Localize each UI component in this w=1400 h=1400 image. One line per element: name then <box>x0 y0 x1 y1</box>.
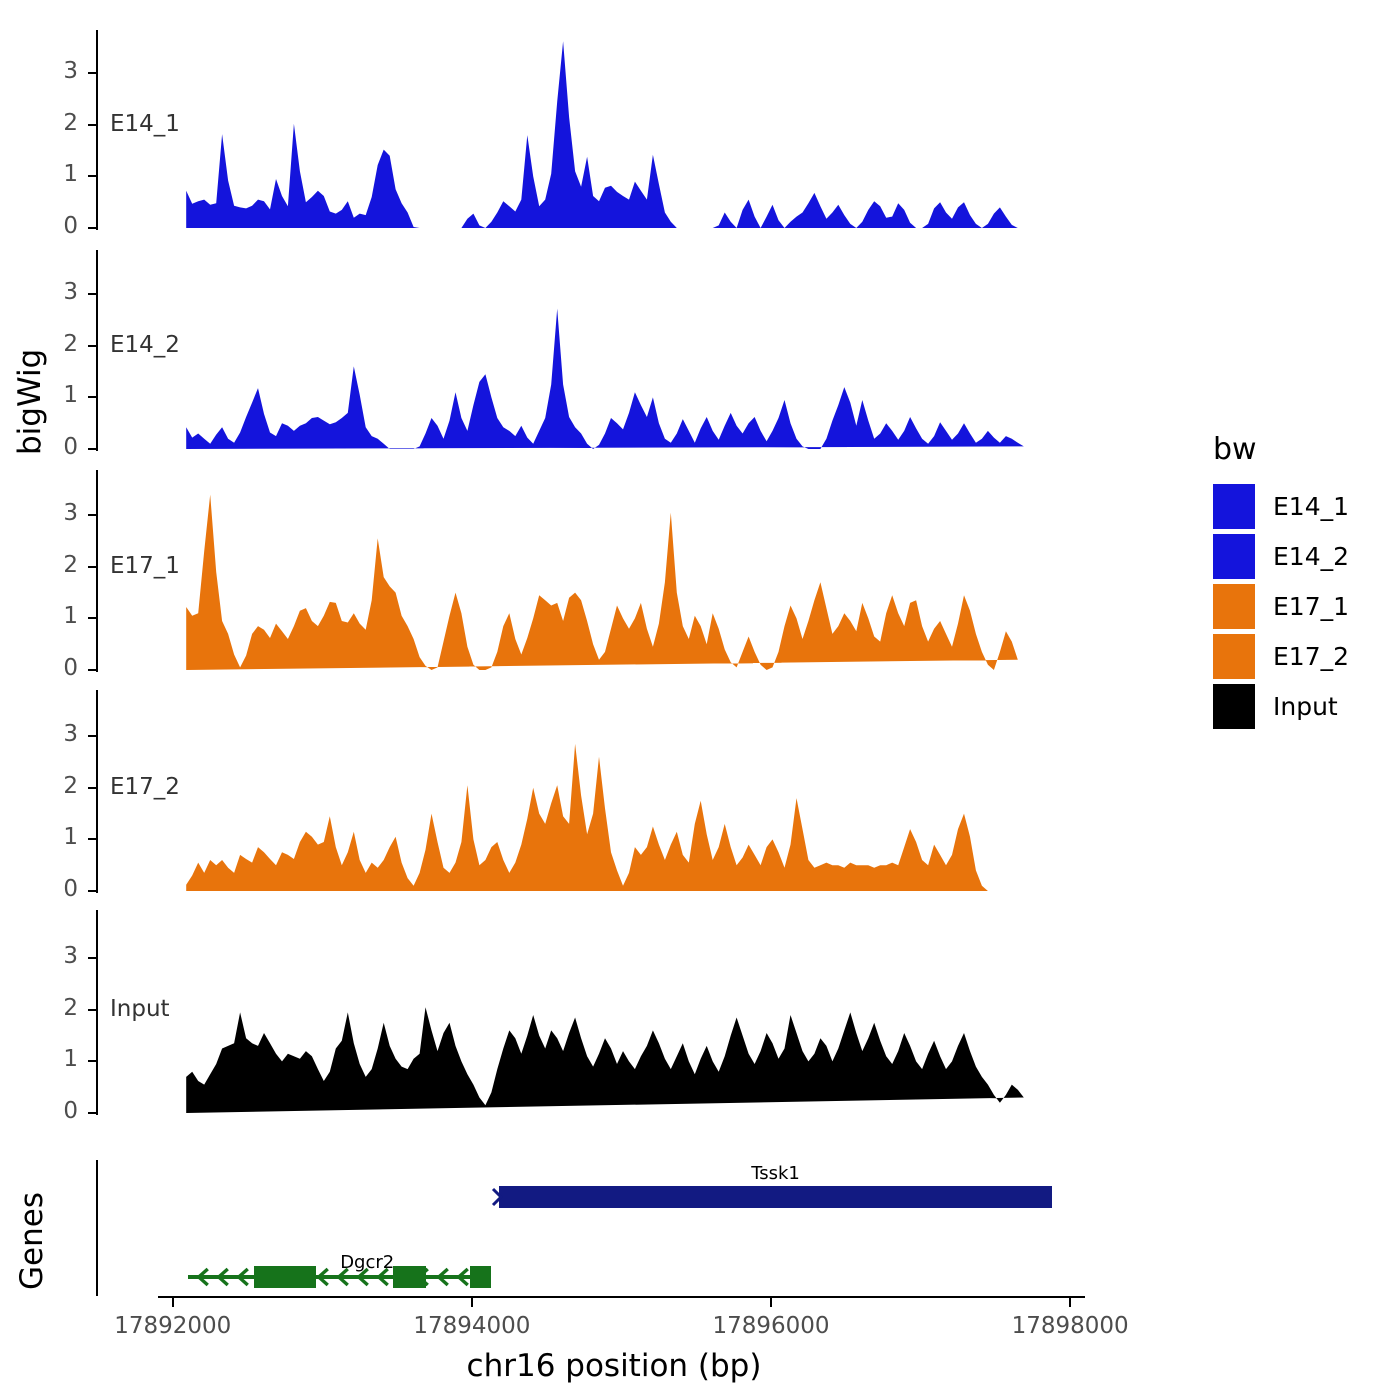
x-axis-title: chr16 position (bp) <box>0 1348 1228 1384</box>
y-tick-label: 1 <box>18 824 78 850</box>
x-tick-label: 17898000 <box>990 1313 1150 1339</box>
x-tick-label: 17892000 <box>93 1313 253 1339</box>
y-tick-label: 3 <box>18 500 78 526</box>
dgcr2-gene-label: Dgcr2 <box>0 1252 734 1273</box>
y-tick-label: 0 <box>18 1098 78 1124</box>
legend-item-e14_1[interactable]: E14_1 <box>1213 481 1349 531</box>
y-tick <box>88 293 96 295</box>
legend-swatch-e17_2 <box>1213 634 1255 679</box>
legend-label-input: Input <box>1273 692 1338 721</box>
track-label-e17_2: E17_2 <box>110 774 180 800</box>
legend-swatch-e17_1 <box>1213 584 1255 629</box>
y-tick-label: 3 <box>18 279 78 305</box>
legend-swatch-input <box>1213 684 1255 729</box>
y-tick-label: 3 <box>18 943 78 969</box>
genome-browser-figure: bigWig Genes 0123E14_10123E14_20123E17_1… <box>0 0 1400 1400</box>
y-tick-label: 0 <box>18 213 78 239</box>
legend-label-e14_2: E14_2 <box>1273 542 1349 571</box>
y-axis-line <box>96 470 98 672</box>
y-axis-line <box>96 30 98 230</box>
y-tick <box>88 175 96 177</box>
x-tick-label: 17894000 <box>392 1313 552 1339</box>
y-tick-label: 2 <box>18 552 78 578</box>
y-tick <box>88 957 96 959</box>
y-tick <box>88 124 96 126</box>
y-tick-label: 0 <box>18 655 78 681</box>
legend: bw E14_1E14_2E17_1E17_2Input <box>1213 432 1349 731</box>
legend-items: E14_1E14_2E17_1E17_2Input <box>1213 481 1349 731</box>
y-tick <box>88 1112 96 1114</box>
y-tick <box>88 566 96 568</box>
y-tick-label: 1 <box>18 161 78 187</box>
y-tick <box>88 396 96 398</box>
y-tick <box>88 617 96 619</box>
tssk1-gene-body[interactable] <box>499 1186 1052 1208</box>
legend-title: bw <box>1213 432 1349 467</box>
y-axis-line <box>96 690 98 893</box>
y-axis-line <box>96 250 98 451</box>
y-tick-label: 2 <box>18 331 78 357</box>
x-axis-line <box>158 1296 1085 1298</box>
y-tick-label: 3 <box>18 58 78 84</box>
legend-item-e17_1[interactable]: E17_1 <box>1213 581 1349 631</box>
y-tick <box>88 72 96 74</box>
x-tick <box>172 1298 174 1307</box>
y-axis-line <box>96 910 98 1115</box>
y-tick-label: 0 <box>18 876 78 902</box>
y-tick <box>88 735 96 737</box>
legend-swatch-e14_2 <box>1213 534 1255 579</box>
legend-swatch-e14_1 <box>1213 484 1255 529</box>
track-label-e14_1: E14_1 <box>110 111 180 137</box>
x-tick <box>1069 1298 1071 1307</box>
y-tick <box>88 890 96 892</box>
dgcr2-exon-1[interactable] <box>254 1266 317 1288</box>
legend-label-e14_1: E14_1 <box>1273 492 1349 521</box>
y-tick-label: 1 <box>18 1046 78 1072</box>
track-label-input: Input <box>110 996 170 1022</box>
y-tick-label: 2 <box>18 773 78 799</box>
y-tick-label: 2 <box>18 995 78 1021</box>
y-tick <box>88 514 96 516</box>
y-tick <box>88 838 96 840</box>
y-tick <box>88 1009 96 1011</box>
track-label-e14_2: E14_2 <box>110 332 180 358</box>
legend-item-e14_2[interactable]: E14_2 <box>1213 531 1349 581</box>
y-tick-label: 2 <box>18 110 78 136</box>
y-tick <box>88 787 96 789</box>
x-tick-label: 17896000 <box>691 1313 851 1339</box>
y-tick-label: 3 <box>18 721 78 747</box>
y-tick <box>88 227 96 229</box>
x-tick <box>770 1298 772 1307</box>
legend-label-e17_2: E17_2 <box>1273 642 1349 671</box>
dgcr2-intron-line <box>188 1275 490 1279</box>
y-tick <box>88 1060 96 1062</box>
dgcr2-exon-2[interactable] <box>393 1266 426 1288</box>
tssk1-strand-arrow-icon <box>490 1186 506 1208</box>
y-tick-label: 1 <box>18 382 78 408</box>
y-tick <box>88 669 96 671</box>
y-tick <box>88 448 96 450</box>
tssk1-gene-label: Tssk1 <box>0 1163 1400 1184</box>
track-label-e17_1: E17_1 <box>110 553 180 579</box>
legend-item-e17_2[interactable]: E17_2 <box>1213 631 1349 681</box>
x-tick <box>471 1298 473 1307</box>
y-tick <box>88 345 96 347</box>
y-tick-label: 1 <box>18 603 78 629</box>
legend-label-e17_1: E17_1 <box>1273 592 1349 621</box>
y-tick-label: 0 <box>18 434 78 460</box>
dgcr2-exon-3[interactable] <box>470 1266 490 1288</box>
legend-item-input[interactable]: Input <box>1213 681 1349 731</box>
